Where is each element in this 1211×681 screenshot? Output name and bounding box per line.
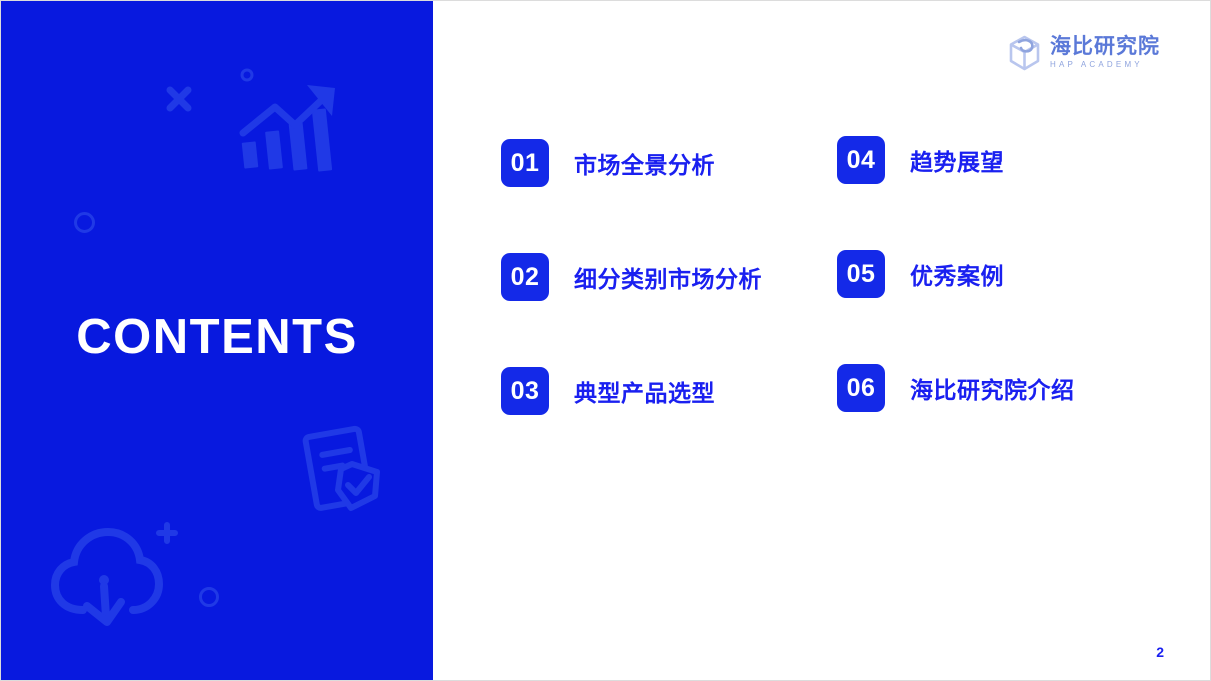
x-mark-icon xyxy=(165,85,193,113)
toc-item-label: 细分类别市场分析 xyxy=(574,260,762,294)
toc-number-badge: 03 xyxy=(501,367,549,415)
page-number: 2 xyxy=(1156,644,1164,660)
toc-item-05[interactable]: 05 优秀案例 xyxy=(837,250,1075,298)
circle-outline-icon xyxy=(197,585,221,609)
cloud-download-icon xyxy=(49,522,164,627)
toc-number-badge: 06 xyxy=(837,364,885,412)
toc-item-label: 市场全景分析 xyxy=(574,146,715,180)
toc-number-badge: 04 xyxy=(837,136,885,184)
circle-outline-icon xyxy=(239,67,255,83)
growth-chart-icon xyxy=(237,79,347,179)
slide: CONTENTS 海比研究院 HAP ACADEMY 01 xyxy=(0,0,1211,681)
toc-item-label: 趋势展望 xyxy=(910,143,1004,177)
toc-number-badge: 02 xyxy=(501,253,549,301)
toc-item-02[interactable]: 02 细分类别市场分析 xyxy=(501,253,762,301)
toc-item-label: 优秀案例 xyxy=(910,257,1004,291)
toc-column-right: 04 趋势展望 05 优秀案例 06 海比研究院介绍 xyxy=(837,139,1075,412)
brand-logo: 海比研究院 HAP ACADEMY xyxy=(1008,35,1160,71)
logo-name-en: HAP ACADEMY xyxy=(1050,59,1160,71)
plus-mark-icon xyxy=(156,522,178,544)
toc-number-badge: 05 xyxy=(837,250,885,298)
page-title: CONTENTS xyxy=(1,307,433,367)
toc-number-badge: 01 xyxy=(501,139,549,187)
toc-item-label: 典型产品选型 xyxy=(574,374,715,408)
toc-item-06[interactable]: 06 海比研究院介绍 xyxy=(837,364,1075,412)
toc-item-03[interactable]: 03 典型产品选型 xyxy=(501,367,762,415)
toc-column-left: 01 市场全景分析 02 细分类别市场分析 03 典型产品选型 xyxy=(501,139,762,415)
circle-outline-icon xyxy=(72,210,97,235)
document-shield-check-icon xyxy=(293,422,388,517)
toc-item-04[interactable]: 04 趋势展望 xyxy=(837,136,1075,184)
toc-item-label: 海比研究院介绍 xyxy=(910,371,1075,405)
toc-item-01[interactable]: 01 市场全景分析 xyxy=(501,139,762,187)
left-title-panel: CONTENTS xyxy=(1,1,433,681)
content-area: 海比研究院 HAP ACADEMY 01 市场全景分析 02 细分类别市场分析 … xyxy=(433,1,1211,681)
logo-name-cn: 海比研究院 xyxy=(1050,35,1160,58)
cube-icon xyxy=(1008,35,1041,71)
